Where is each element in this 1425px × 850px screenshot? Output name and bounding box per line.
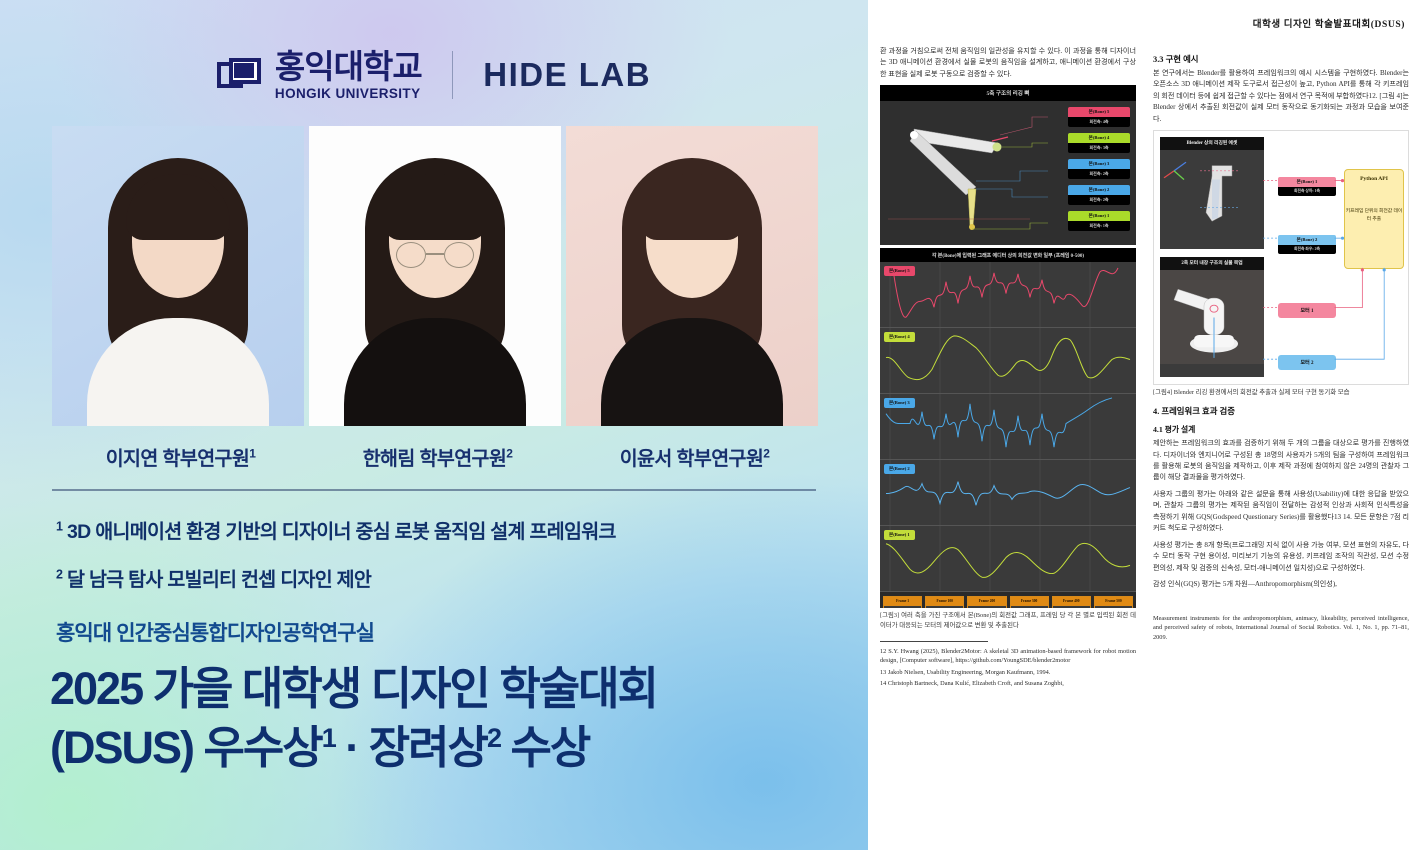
- bone-chip-2: 본(Bone) 2 회전축: 2축: [1068, 185, 1130, 205]
- right-column: 3.3 구현 예시 본 연구에서는 Blender를 활용하여 프레임워크의 예…: [1153, 46, 1409, 841]
- section-4-1-paragraph-b: 사용자 그룹의 평가는 아래와 같은 설문을 통해 사용성(Usability)…: [1153, 489, 1409, 535]
- bone-chip-1: 본(Bone) 1 회전축: 1축: [1068, 211, 1130, 231]
- wave-path-bone4: [880, 328, 1136, 393]
- running-header: 대학생 디자인 학술발표대회(DSUS): [880, 16, 1411, 30]
- wave-label-bone2: 본(Bone) 2: [884, 464, 915, 474]
- wave-row-bone1: 본(Bone) 1: [880, 526, 1136, 592]
- wave-label-bone4: 본(Bone) 4: [884, 332, 915, 342]
- section-4-1-paragraph-a: 제안하는 프레임워크의 효과를 검증하기 위해 두 개의 그룹을 대상으로 평가…: [1153, 438, 1409, 484]
- wave-label-bone1: 본(Bone) 1: [884, 530, 915, 540]
- fw-connectors: [1154, 131, 1408, 384]
- logo-divider: [452, 51, 454, 99]
- hongik-emblem-icon: [217, 58, 261, 92]
- footnote-title-2: 2 달 남극 탐사 모빌리티 컨셉 디자인 제안: [56, 563, 812, 592]
- section-4-1-heading: 4.1 평가 설계: [1153, 424, 1409, 435]
- wave-path-bone5: [880, 262, 1136, 327]
- footnote-rule: [880, 641, 988, 642]
- wave-label-bone5: 본(Bone) 5: [884, 266, 915, 276]
- left-column: 환 과정을 거침으로써 전체 움직임의 일관성을 유지할 수 있다. 이 과정을…: [880, 46, 1136, 841]
- section-4-1-paragraph-d: 감성 인식(GQS) 평가는 5개 차원—Anthropomorphism(의인…: [1153, 579, 1409, 590]
- section-3-3-heading: 3.3 구현 예시: [1153, 53, 1409, 65]
- wave-row-bone4: 본(Bone) 4: [880, 328, 1136, 394]
- right-footnote: Measurement instruments for the anthropo…: [1153, 614, 1409, 643]
- wave-label-bone3: 본(Bone) 3: [884, 398, 915, 408]
- wave-path-bone1: [880, 526, 1136, 591]
- headline-line-2: (DSUS) 우수상1 · 장려상2 수상: [50, 718, 818, 777]
- headline-line-1: 2025 가을 대학생 디자인 학술대회: [50, 659, 818, 718]
- award-headline: 2025 가을 대학생 디자인 학술대회 (DSUS) 우수상1 · 장려상2 …: [0, 647, 868, 778]
- section-4-1-paragraph-c: 사용성 평가는 총 8개 항목(프로그래밍 지식 없이 사용 가능 여부, 모션…: [1153, 540, 1409, 574]
- logo-row: 홍익대학교 HONGIK UNIVERSITY HIDE LAB: [0, 0, 868, 104]
- section-4-heading: 4. 프레임워크 효과 검증: [1153, 405, 1409, 417]
- researcher-photo-2: [309, 126, 561, 426]
- bone-chip-4: 본(Bone) 4 회전축: 3축: [1068, 133, 1130, 153]
- figure-framework-diagram: Blender 상의 리깅된 에셋 2축 모터 내장 구조의 실물 목: [1153, 130, 1409, 385]
- hongik-university-logo: 홍익대학교 HONGIK UNIVERSITY: [217, 50, 422, 101]
- figure-rig-diagram: 5축 구조의 리깅 뼈: [880, 85, 1136, 245]
- horizontal-divider: [52, 489, 816, 491]
- two-column-body: 환 과정을 거침으로써 전체 움직임의 일관성을 유지할 수 있다. 이 과정을…: [880, 46, 1411, 841]
- rig-canvas: 본(Bone) 5 회전축: 4축 본(Bone) 4 회전축: 3축 본(Bo…: [880, 101, 1136, 245]
- university-name-en: HONGIK UNIVERSITY: [275, 87, 422, 101]
- frame-thumb-6: Frame 500: [1094, 596, 1133, 608]
- wave-row-bone2: 본(Bone) 2: [880, 460, 1136, 526]
- researcher-name-1: 이지연 학부연구원1: [52, 442, 309, 471]
- frame-thumb-1: Frame 1: [883, 596, 922, 608]
- paper-page: 대학생 디자인 학술발표대회(DSUS) 환 과정을 거침으로써 전체 움직임의…: [868, 0, 1425, 850]
- footnote-14: 14 Christoph Bartneck, Dana Kulić, Eliza…: [880, 679, 1136, 689]
- left-paragraph: 환 과정을 거침으로써 전체 움직임의 일관성을 유지할 수 있다. 이 과정을…: [880, 46, 1136, 80]
- frame-thumbnail-strip: Frame 1 Frame 100 Frame 200 Frame 3: [880, 592, 1136, 608]
- wave-path-bone3: [880, 394, 1136, 459]
- researcher-name-row: 이지연 학부연구원1 한해림 학부연구원2 이윤서 학부연구원2: [0, 426, 868, 471]
- researcher-name-3: 이윤서 학부연구원2: [566, 442, 823, 471]
- wave-row-bone5: 본(Bone) 5: [880, 262, 1136, 328]
- footnote-13: 13 Jakob Nielsen, Usability Engineering,…: [880, 668, 1136, 678]
- researcher-photo-1: [52, 126, 304, 426]
- footnote-title-list: 1 3D 애니메이션 환경 기반의 디자이너 중심 로봇 움직임 설계 프레임워…: [0, 491, 868, 592]
- lab-name: 홍익대 인간중심통합디자인공학연구실: [0, 611, 868, 647]
- figure-rig-title: 5축 구조의 리깅 뼈: [880, 85, 1136, 101]
- researcher-photo-3: [566, 126, 818, 426]
- hide-lab-logo: HIDE LAB: [483, 56, 651, 94]
- section-3-3-paragraph: 본 연구에서는 Blender를 활용하여 프레임워크의 예시 시스템을 구현하…: [1153, 68, 1409, 125]
- poster-and-document-page: 홍익대학교 HONGIK UNIVERSITY HIDE LAB: [0, 0, 1425, 850]
- wave-path-bone2: [880, 460, 1136, 525]
- researcher-photo-row: [0, 104, 868, 426]
- university-name-ko: 홍익대학교: [275, 50, 422, 83]
- frame-thumb-5: Frame 400: [1052, 596, 1091, 608]
- footnote-12: 12 S.Y. Hwang (2025), Blender2Motor: A s…: [880, 647, 1136, 666]
- award-poster-panel: 홍익대학교 HONGIK UNIVERSITY HIDE LAB: [0, 0, 868, 850]
- bone-chip-5: 본(Bone) 5 회전축: 4축: [1068, 107, 1130, 127]
- figure-waveform-graphs: 각 본(Bone)에 입력된 그래프 에디터 상의 회전값 변화 일부 (프레임…: [880, 248, 1136, 608]
- figure-3-caption: [그림3] 여러 축을 가진 구조에서 본(Bone)의 회전값 그래프, 프레…: [880, 611, 1136, 630]
- researcher-name-2: 한해림 학부연구원2: [309, 442, 566, 471]
- frame-thumb-4: Frame 300: [1010, 596, 1049, 608]
- frame-thumb-2: Frame 100: [925, 596, 964, 608]
- glasses-icon: [396, 242, 474, 268]
- frame-thumb-3: Frame 200: [967, 596, 1006, 608]
- bone-chip-3: 본(Bone) 3 회전축: 2축: [1068, 159, 1130, 179]
- figure-wave-title: 각 본(Bone)에 입력된 그래프 에디터 상의 회전값 변화 일부 (프레임…: [880, 248, 1136, 262]
- footnote-title-1: 1 3D 애니메이션 환경 기반의 디자이너 중심 로봇 움직임 설계 프레임워…: [56, 515, 812, 544]
- figure-4-caption: [그림4] Blender 리깅 환경에서의 회전값 추출과 실제 모터 구현 …: [1153, 388, 1409, 398]
- wave-row-bone3: 본(Bone) 3: [880, 394, 1136, 460]
